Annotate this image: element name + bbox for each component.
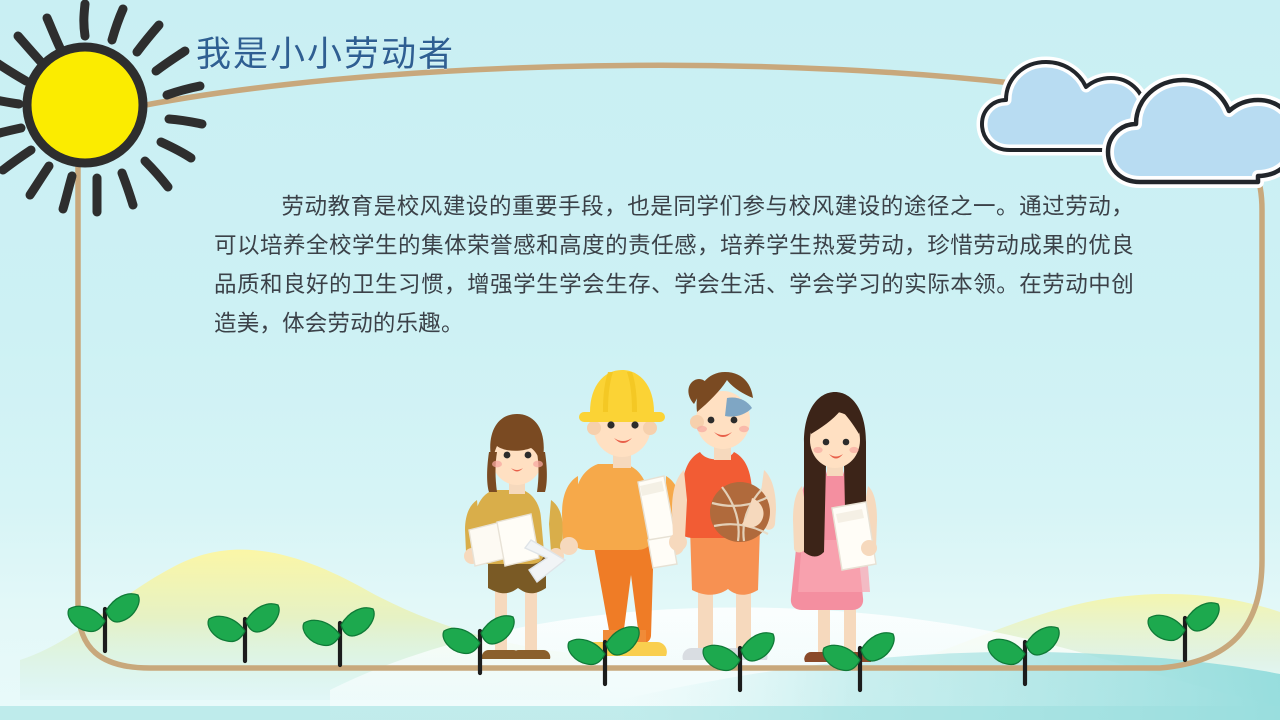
body-paragraph: 劳动教育是校风建设的重要手段，也是同学们参与校风建设的途径之一。通过劳动，可以培…	[214, 188, 1134, 344]
sprout-7	[823, 633, 894, 690]
sprout-8	[988, 627, 1059, 684]
sprout-3	[303, 608, 374, 665]
sprouts-row	[0, 0, 1280, 720]
page-title: 我是小小劳动者	[196, 36, 455, 75]
sprout-1	[68, 594, 139, 651]
sprout-6	[703, 633, 774, 690]
sprout-5	[568, 627, 639, 684]
sprout-9	[1148, 603, 1219, 660]
slide-canvas: 我是小小劳动者 劳动教育是校风建设的重要手段，也是同学们参与校风建设的途径之一。…	[0, 0, 1280, 720]
sprout-2	[208, 604, 279, 661]
sprout-4	[443, 616, 514, 673]
